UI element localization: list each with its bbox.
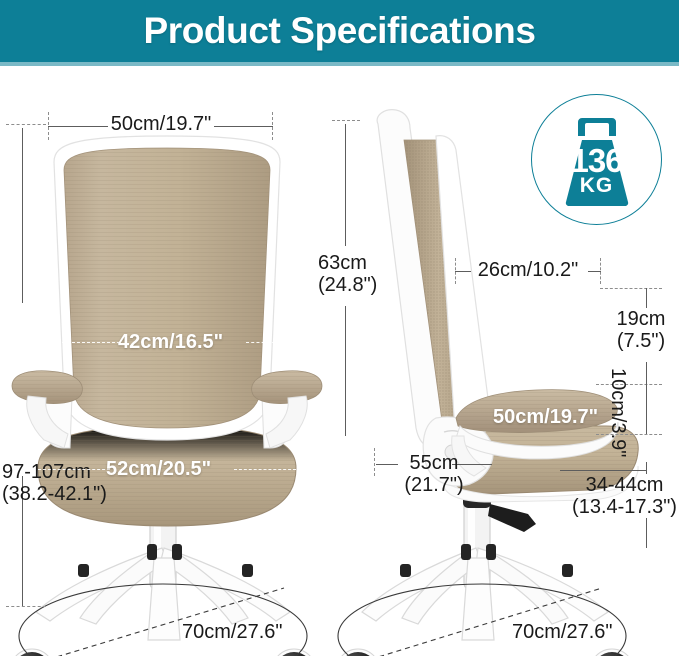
guide-backrest-height-upper [345, 124, 346, 246]
dim-armrest-height: 19cm (7.5") [604, 308, 678, 353]
guide-armrest-height-top [600, 288, 662, 289]
guide-height-line-upper [22, 128, 23, 303]
dim-base-diameter-side: 70cm/27.6" [512, 622, 613, 643]
guide-backrest-height-lower [345, 306, 346, 436]
dim-seat-to-front: 55cm (21.7") [378, 452, 490, 497]
guide-seat-height-top [560, 470, 646, 471]
guide-inner-width-a [62, 342, 120, 343]
dim-overall-height: 97-107cm (38.2-42.1") [2, 461, 107, 506]
page-title: Product Specifications [143, 10, 535, 52]
page-header: Product Specifications [0, 0, 679, 62]
guide-armrest-height-lower [646, 362, 647, 384]
dim-backrest-height: 63cm (24.8") [318, 252, 377, 297]
dim-seat-height: 34-44cm (13.4-17.3") [570, 474, 679, 519]
guide-seat-width-a [38, 469, 110, 470]
dim-backrest-inner-width: 42cm/16.5" [118, 331, 248, 354]
guide-height-bottom [6, 606, 46, 607]
guide-seat-width-b [234, 469, 296, 470]
guide-seat-thickness-line [646, 384, 647, 434]
guide-height-top [6, 124, 46, 125]
dim-base-diameter-front: 70cm/27.6" [182, 622, 283, 643]
guide-inner-width-b [246, 342, 296, 343]
dim-seat-depth: 50cm/19.7" [493, 406, 598, 429]
dim-seat-thickness: 10cm/3.9" [607, 368, 628, 457]
guide-backrest-width-line-b [214, 126, 273, 127]
guide-backrest-width-line-a [48, 126, 108, 127]
specification-diagram: 136 KG [0, 66, 679, 656]
guide-backrest-height-top [332, 120, 360, 121]
front-view-chair [2, 96, 332, 656]
guide-seat-height-tick-top [646, 462, 647, 474]
guide-seat-front-left [374, 448, 375, 476]
guide-seat-height-line [646, 518, 647, 548]
guide-armrest-height-upper [646, 288, 647, 308]
dim-seat-width: 52cm/20.5" [106, 458, 236, 481]
dim-backrest-width: 50cm/19.7" [104, 114, 218, 135]
dim-armrest-length: 26cm/10.2" [466, 260, 590, 281]
